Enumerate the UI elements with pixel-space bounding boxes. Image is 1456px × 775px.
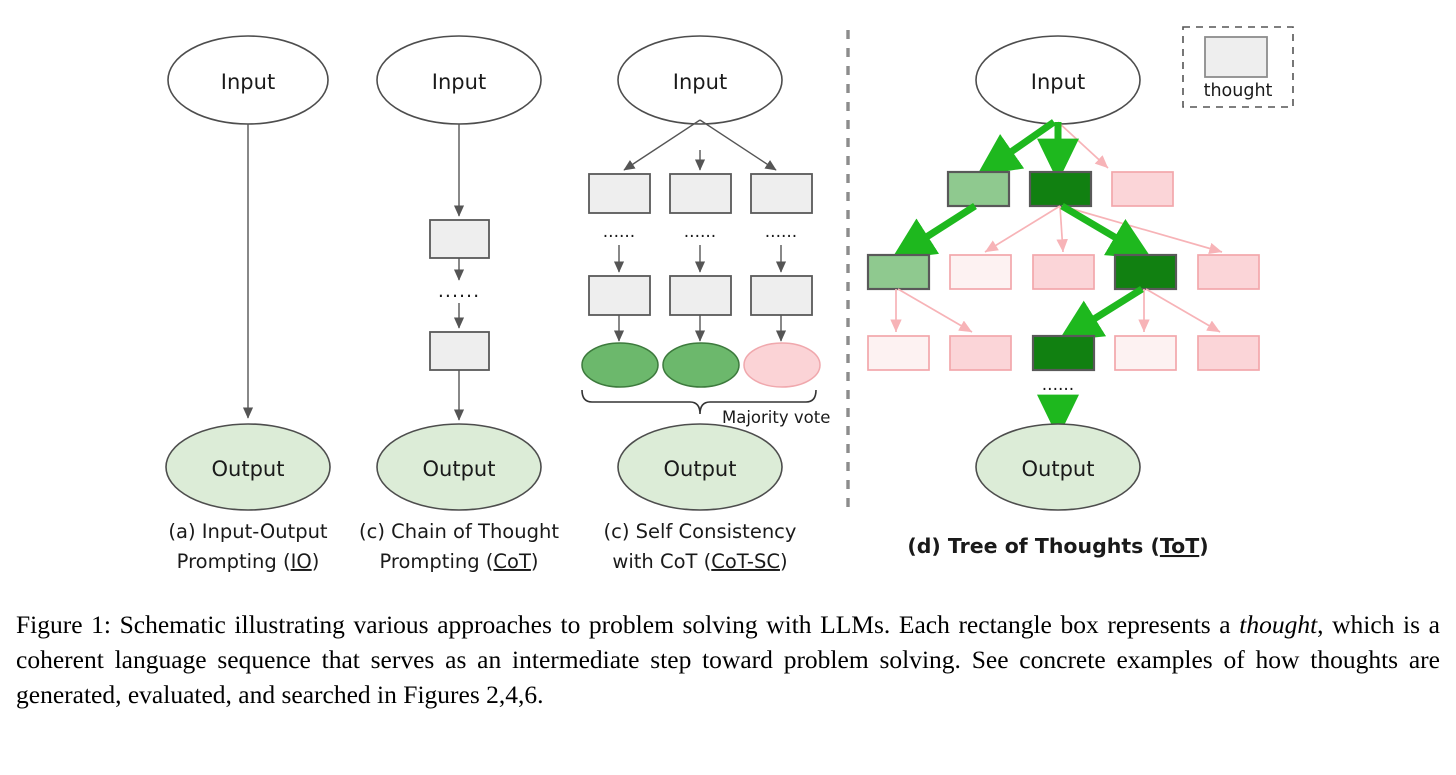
cotsc-fan-arrow-left (624, 120, 700, 170)
caption-io-pre: Prompting ( (177, 550, 291, 573)
caption-tot-post: ) (1199, 534, 1208, 558)
tot-node-r2n5 (1198, 255, 1259, 289)
caption-cotsc-abbr: CoT-SC (711, 550, 780, 573)
tot-edge-r1n2-r2n4 (1062, 206, 1140, 252)
caption-tot: (d) Tree of Thoughts (ToT) (907, 534, 1208, 558)
io-output-label: Output (212, 457, 285, 481)
tot-edge-r2n4-r3n3 (1070, 289, 1142, 334)
caption-io-line1: (a) Input-Output (168, 520, 328, 543)
panel-tot: Input (868, 36, 1259, 510)
figure-page: Input Output Input ...... Output (0, 0, 1456, 775)
panel-cot: Input ...... Output (377, 36, 541, 510)
caption-cotsc-line1: (c) Self Consistency (604, 520, 797, 543)
cotsc-ellipsis-3: ...... (765, 222, 797, 242)
tot-node-r3n4 (1115, 336, 1176, 370)
cotsc-input-label: Input (673, 70, 727, 94)
caption-cotsc-line2: with CoT (CoT-SC) (612, 550, 787, 573)
figure-caption: Figure 1: Schematic illustrating various… (16, 608, 1440, 713)
cotsc-answer-ellipse-3 (744, 343, 820, 387)
panel-cot-sc: Input ...... ...... ...... (582, 36, 830, 510)
tot-edge-r1n2-r2n5 (1062, 206, 1222, 252)
cotsc-answer-ellipse-1 (582, 343, 658, 387)
panel-captions: (a) Input-Output Prompting (IO) (c) Chai… (168, 520, 1208, 573)
caption-cotsc-pre: with CoT ( (612, 550, 711, 573)
tot-node-r1n2 (1030, 172, 1091, 206)
caption-cot-line1: (c) Chain of Thought (359, 520, 559, 543)
tot-node-r1n1 (948, 172, 1009, 206)
caption-cot-abbr: CoT (493, 550, 531, 573)
cot-input-label: Input (432, 70, 486, 94)
caption-cotsc-post: ) (780, 550, 788, 573)
tot-edge-r1n2-r2n3 (1060, 206, 1063, 252)
cot-ellipsis: ...... (438, 280, 480, 302)
tot-node-r2n1 (868, 255, 929, 289)
cotsc-fan-arrow-right (700, 120, 776, 170)
tot-edge-r2n4-r3n5 (1146, 289, 1220, 332)
caption-cot-post: ) (531, 550, 539, 573)
cotsc-ellipsis-2: ...... (684, 222, 716, 242)
tot-node-r1n3 (1112, 172, 1173, 206)
tot-output-label: Output (1022, 457, 1095, 481)
tot-node-r3n5 (1198, 336, 1259, 370)
legend: thought (1183, 27, 1293, 107)
cotsc-answer-ellipse-2 (663, 343, 739, 387)
tot-input-label: Input (1031, 70, 1085, 94)
cotsc-majority-vote-label: Majority vote (722, 408, 830, 427)
caption-cot-line2: Prompting (CoT) (380, 550, 539, 573)
cotsc-thought-box-3b (751, 276, 812, 315)
cotsc-thought-box-2a (670, 174, 731, 213)
cotsc-thought-box-2b (670, 276, 731, 315)
caption-italic-thought: thought (1239, 610, 1317, 639)
io-input-label: Input (221, 70, 275, 94)
tot-edge-r1n1-r2n1 (903, 206, 975, 252)
cotsc-thought-box-1b (589, 276, 650, 315)
caption-tot-pre: (d) Tree of Thoughts ( (907, 534, 1160, 558)
cotsc-thought-box-1a (589, 174, 650, 213)
caption-io-line2: Prompting (IO) (177, 550, 320, 573)
caption-io-abbr: IO (291, 550, 312, 573)
tot-node-r3n1 (868, 336, 929, 370)
tot-node-r2n2 (950, 255, 1011, 289)
cot-output-label: Output (423, 457, 496, 481)
tot-ellipsis: ...... (1042, 375, 1074, 395)
cotsc-output-label: Output (664, 457, 737, 481)
caption-part1: Figure 1: Schematic illustrating various… (16, 610, 1239, 639)
caption-tot-abbr: ToT (1160, 534, 1199, 558)
cot-thought-box-2 (430, 332, 489, 370)
tot-node-r3n3 (1033, 336, 1094, 370)
tot-edge-root-r1n3 (1058, 122, 1108, 168)
panel-io: Input Output (166, 36, 330, 510)
caption-io-post: ) (312, 550, 320, 573)
cot-thought-box-1 (430, 220, 489, 258)
tot-node-r2n4 (1115, 255, 1176, 289)
tot-edge-r2n1-r3n2 (898, 289, 972, 332)
figure-illustration: Input Output Input ...... Output (0, 0, 1456, 600)
tot-node-r3n2 (950, 336, 1011, 370)
tot-node-r2n3 (1033, 255, 1094, 289)
cotsc-thought-box-3a (751, 174, 812, 213)
legend-thought-label: thought (1204, 81, 1273, 101)
legend-thought-swatch (1205, 37, 1267, 77)
cotsc-ellipsis-1: ...... (603, 222, 635, 242)
caption-cot-pre: Prompting ( (380, 550, 494, 573)
figure-caption-block: Figure 1: Schematic illustrating various… (16, 608, 1440, 713)
tot-edge-r1n2-r2n2 (985, 206, 1060, 252)
tot-edge-root-r1n1 (988, 122, 1054, 168)
